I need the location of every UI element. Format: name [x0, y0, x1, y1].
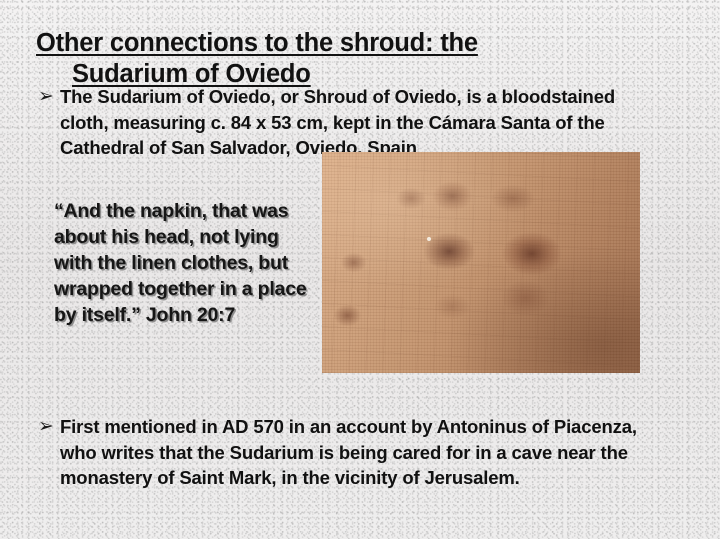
bullet-item-1: ➢ The Sudarium of Oviedo, or Shroud of O… [38, 84, 638, 161]
bullet-item-2: ➢ First mentioned in AD 570 in an accoun… [38, 414, 668, 491]
sudarium-cloth-image [322, 152, 640, 373]
scripture-quote-text: “And the napkin, that was about his head… [54, 198, 309, 328]
scripture-quote: “And the napkin, that was about his head… [54, 198, 309, 328]
slide-title: Other connections to the shroud: the Sud… [36, 28, 616, 90]
bullet-item-2-text: First mentioned in AD 570 in an account … [60, 414, 668, 491]
arrow-bullet-icon: ➢ [38, 414, 60, 439]
bullet-item-1-text: The Sudarium of Oviedo, or Shroud of Ovi… [60, 84, 638, 161]
slide-title-line-2: Sudarium of Oviedo [72, 59, 616, 90]
presentation-slide: Other connections to the shroud: the Sud… [0, 0, 720, 539]
slide-title-line-1: Other connections to the shroud: the [36, 28, 616, 59]
cloth-speck [427, 237, 431, 241]
